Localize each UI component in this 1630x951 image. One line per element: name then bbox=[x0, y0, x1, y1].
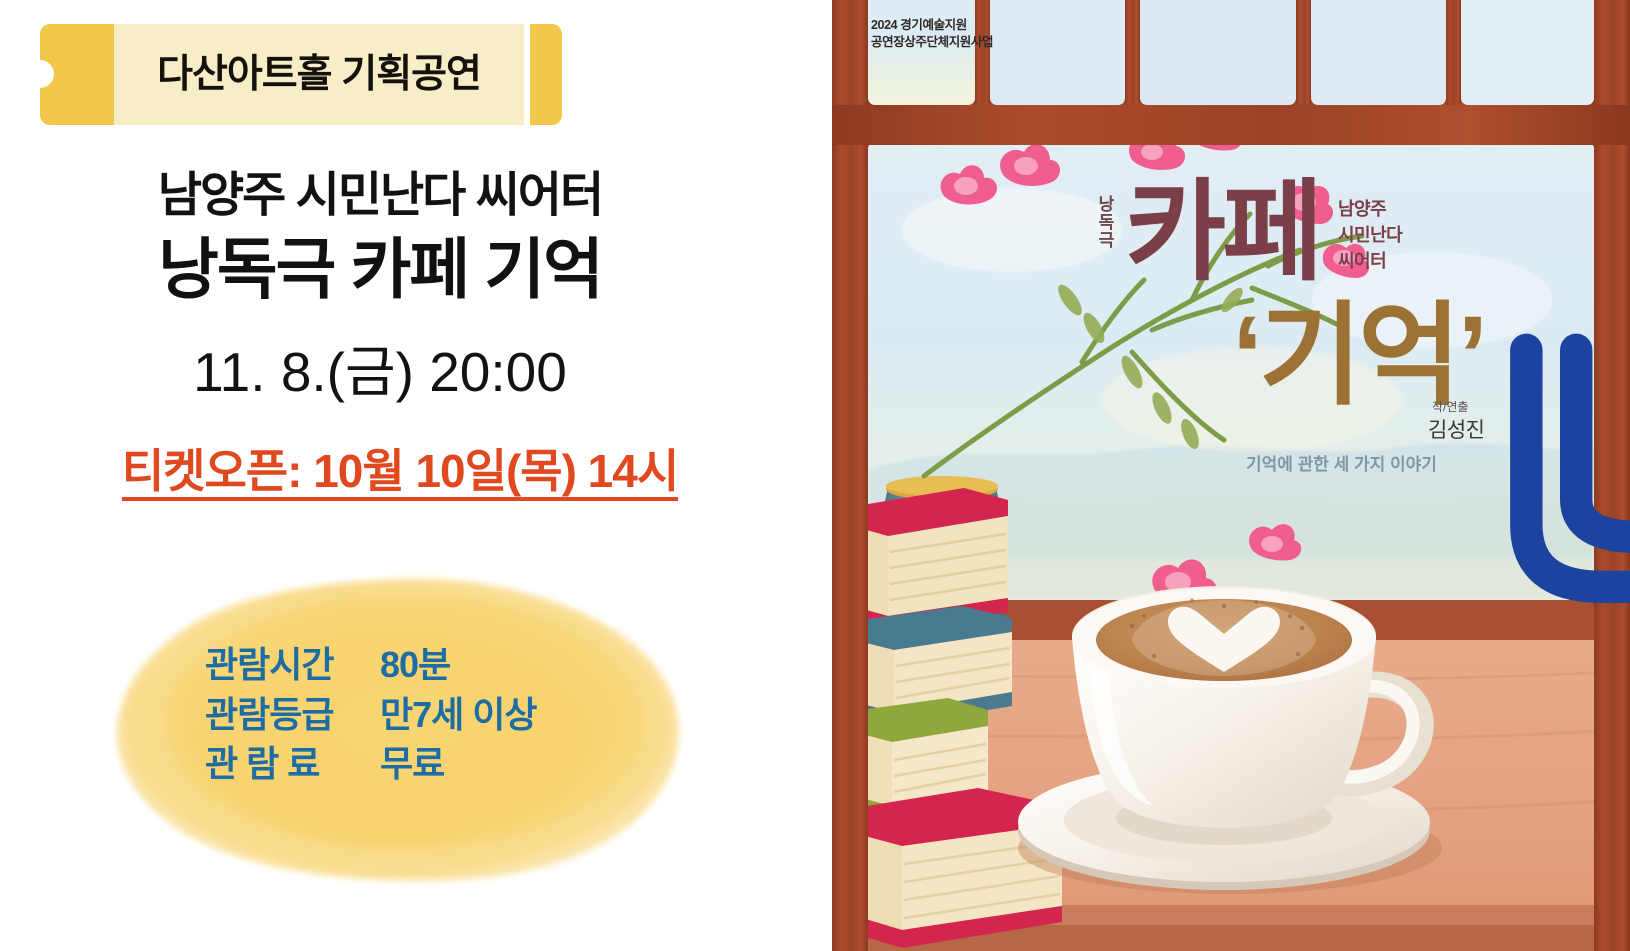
company-subtitle: 남양주 시민난다 씨어터 bbox=[0, 172, 760, 220]
ticket-end-icon bbox=[530, 24, 562, 125]
poster-genre-label: 낭독극 bbox=[1096, 195, 1113, 249]
troupe-line-3: 씨어터 bbox=[1338, 248, 1402, 274]
poster-tagline: 기억에 관한 세 가지 이야기 bbox=[1246, 450, 1437, 475]
show-poster-image: 2024 경기예술지원 공연장상주단체지원사업 낭독극 카페 남양주 시민난다 … bbox=[832, 0, 1630, 951]
detail-value: 만7세 이상 bbox=[380, 694, 537, 735]
poster-troupe-name: 남양주 시민난다 씨어터 bbox=[1338, 196, 1402, 274]
detail-value: 무료 bbox=[380, 743, 444, 784]
info-blob-group: 관람시간80분 관람등급만7세 이상 관 람 료무료 bbox=[105, 565, 685, 885]
event-category-badge: 다산아트홀 기획공연 bbox=[40, 24, 562, 125]
detail-row: 관람등급만7세 이상 bbox=[205, 690, 645, 740]
detail-row: 관람시간80분 bbox=[205, 640, 645, 690]
page-title: 낭독극 카페 기억 bbox=[0, 232, 760, 308]
performance-datetime: 11. 8.(금) 20:00 bbox=[0, 345, 760, 400]
ticket-notch-icon bbox=[26, 60, 54, 88]
badge-body: 다산아트홀 기획공연 bbox=[114, 24, 524, 125]
detail-label: 관람등급 bbox=[205, 690, 380, 740]
detail-row: 관 람 료무료 bbox=[205, 739, 645, 789]
ticket-open-text: 티켓오픈: 10월 10일(목) 14시 bbox=[122, 448, 678, 501]
performance-details: 관람시간80분 관람등급만7세 이상 관 람 료무료 bbox=[205, 640, 645, 789]
detail-label: 관람시간 bbox=[205, 640, 380, 690]
troupe-line-2: 시민난다 bbox=[1338, 222, 1402, 248]
ticket-open-notice: 티켓오픈: 10월 10일(목) 14시 bbox=[0, 448, 800, 501]
detail-label: 관 람 료 bbox=[205, 739, 380, 789]
ticket-stub-icon bbox=[40, 24, 114, 125]
poster-main-title: 카페 bbox=[1125, 178, 1319, 288]
credit-person-name: 김성진 bbox=[1428, 414, 1484, 444]
grant-line-2: 공연장상주단체지원사업 bbox=[871, 34, 1051, 51]
grant-line-1: 2024 경기예술지원 bbox=[871, 17, 1051, 34]
namyangju-city-logo-icon bbox=[1464, 24, 1630, 951]
badge-label: 다산아트홀 기획공연 bbox=[157, 55, 481, 94]
poster-quoted-title: ‘기억’ bbox=[1232, 300, 1484, 412]
grant-credit: 2024 경기예술지원 공연장상주단체지원사업 bbox=[871, 17, 1051, 51]
poster-page: 다산아트홀 기획공연 남양주 시민난다 씨어터 낭독극 카페 기억 11. 8.… bbox=[0, 0, 1630, 951]
credit-role-label: 작/연출 bbox=[1432, 398, 1468, 415]
left-info-panel: 다산아트홀 기획공연 남양주 시민난다 씨어터 낭독극 카페 기억 11. 8.… bbox=[0, 0, 832, 951]
detail-value: 80분 bbox=[380, 644, 450, 685]
troupe-line-1: 남양주 bbox=[1338, 196, 1402, 222]
